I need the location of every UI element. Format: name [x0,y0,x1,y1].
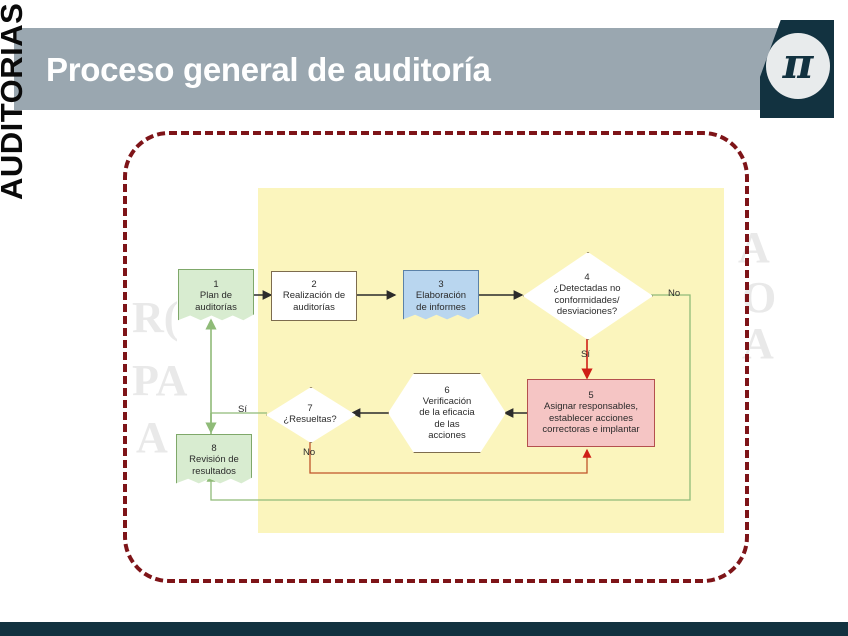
node-3-elaboracion-de-informes[interactable]: 3 Elaboración de informes [403,270,479,322]
edge-label-si-7: Sí [238,404,247,415]
node-3-number: 3 [438,279,443,290]
node-4-label-line2: conformidades/ [552,295,623,307]
node-8-revision-de-resultados[interactable]: 8 Revisión de resultados [176,434,252,486]
node-3-label-line2: de informes [413,302,469,314]
node-1-plan-de-auditorias[interactable]: 1 Plan de auditorías [178,269,254,323]
node-4-text: 4 ¿Detectadas no conformidades/ desviaci… [523,252,651,338]
node-2-label-line2: auditorías [290,302,338,314]
node-5-label-line1: Asignar responsables, [541,401,641,413]
edge-label-si-4: Sí [581,349,590,360]
node-6-label-line4: acciones [425,430,469,442]
node-4-label-line1: ¿Detectadas no [550,283,623,295]
node-5-number: 5 [588,390,593,401]
node-7-label-line1: ¿Resueltas? [280,414,339,426]
node-6-label-line3: de las [431,419,462,431]
node-5-label-line3: correctoras e implantar [539,424,642,436]
node-1-number: 1 [213,279,218,290]
node-1-label-line1: Plan de [197,290,235,302]
footer-bar [0,622,848,636]
node-2-label-line1: Realización de [280,290,348,302]
node-6-number: 6 [444,385,449,396]
audit-frame [123,131,749,583]
edge-label-no-4: No [668,288,680,299]
node-4-label-line3: desviaciones? [554,306,620,318]
logo-circle: π [766,33,830,99]
node-5-asignar-responsables[interactable]: 5 Asignar responsables, establecer accio… [527,379,655,447]
node-2-realizacion-de-auditorias[interactable]: 2 Realización de auditorías [271,271,357,321]
node-6-label-line2: de la eficacia [416,407,477,419]
node-7-text: 7 ¿Resueltas? [266,387,354,441]
node-8-label-line2: resultados [189,466,239,478]
node-4-number: 4 [584,272,589,283]
node-6-label-line1: Verificación [420,396,475,408]
node-8-label-line1: Revisión de [186,454,242,466]
page-title: Proceso general de auditoría [46,40,491,100]
edge-label-no-7: No [303,447,315,458]
audit-section-label: AUDITORÍAS [0,0,30,200]
pi-icon: π [783,43,814,85]
node-1-label-line2: auditorías [192,302,240,314]
node-7-number: 7 [307,403,312,414]
node-2-number: 2 [311,279,316,290]
node-3-label-line1: Elaboración [413,290,469,302]
node-5-label-line2: establecer acciones [546,413,636,425]
node-8-number: 8 [211,443,216,454]
